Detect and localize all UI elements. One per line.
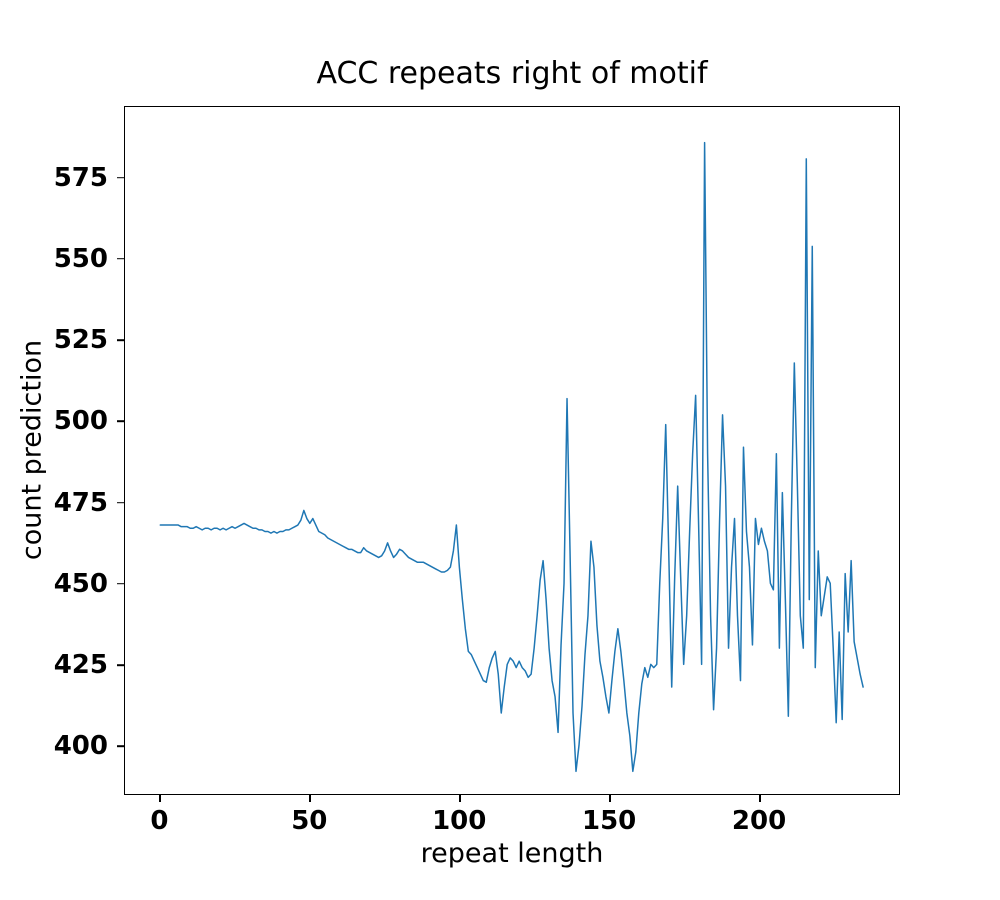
x-tick-mark	[609, 795, 611, 802]
x-tick-label: 150	[582, 806, 636, 836]
x-tick-mark	[759, 795, 761, 802]
y-tick-label: 550	[4, 244, 108, 274]
y-tick-label: 575	[4, 163, 108, 193]
x-axis-label: repeat length	[124, 838, 900, 869]
x-tick-mark	[459, 795, 461, 802]
y-tick-mark	[117, 339, 124, 341]
y-tick-mark	[117, 258, 124, 260]
y-tick-mark	[117, 420, 124, 422]
y-tick-mark	[117, 745, 124, 747]
page-title: ACC repeats right of motif	[124, 56, 900, 91]
x-tick-mark	[309, 795, 311, 802]
line-series-count-prediction	[160, 143, 863, 772]
y-tick-label: 400	[4, 731, 108, 761]
y-tick-mark	[117, 583, 124, 585]
line-series-svg	[125, 107, 899, 794]
x-tick-label: 0	[150, 806, 168, 836]
y-tick-label: 450	[4, 569, 108, 599]
y-tick-label: 500	[4, 406, 108, 436]
y-tick-label: 525	[4, 325, 108, 355]
y-tick-mark	[117, 664, 124, 666]
x-tick-label: 200	[732, 806, 786, 836]
y-axis-label: count prediction	[17, 340, 48, 560]
x-tick-mark	[159, 795, 161, 802]
plot-area	[124, 106, 900, 795]
y-tick-label: 425	[4, 650, 108, 680]
y-tick-mark	[117, 177, 124, 179]
x-tick-label: 50	[291, 806, 327, 836]
chart-figure: ACC repeats right of motif count predict…	[0, 0, 1000, 900]
x-tick-label: 100	[432, 806, 486, 836]
y-tick-label: 475	[4, 488, 108, 518]
y-tick-mark	[117, 502, 124, 504]
